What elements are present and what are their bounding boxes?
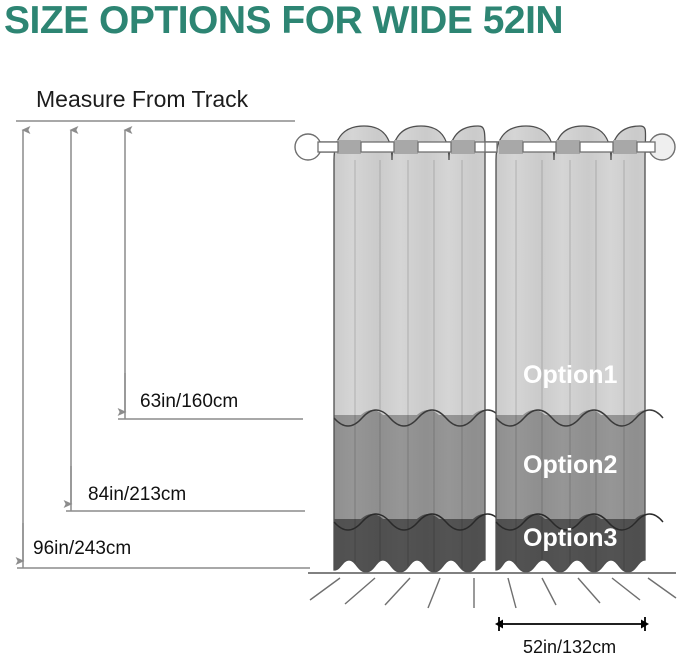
dimension-label-63in: 63in/160cm — [140, 391, 238, 413]
size-options-diagram: SIZE OPTIONS FOR WIDE 52IN Measure From … — [0, 0, 679, 660]
dimension-label-52in-width: 52in/132cm — [523, 636, 616, 658]
rod-finial-left — [295, 134, 321, 160]
option3-label: Option3 — [523, 524, 617, 552]
grommet-group-left — [337, 140, 475, 154]
option1-label: Option1 — [523, 361, 618, 389]
dimension-label-84in: 84in/213cm — [88, 484, 186, 506]
dimension-label-96in: 96in/243cm — [33, 538, 131, 560]
width-dimension-52in — [499, 617, 645, 631]
floor-hatch-icon — [308, 573, 676, 608]
grommet-group-right — [499, 140, 637, 154]
curtain-panel-right — [485, 120, 663, 580]
diagram-canvas: Option1 Option2 Option3 — [0, 0, 679, 660]
option2-label: Option2 — [523, 451, 617, 479]
